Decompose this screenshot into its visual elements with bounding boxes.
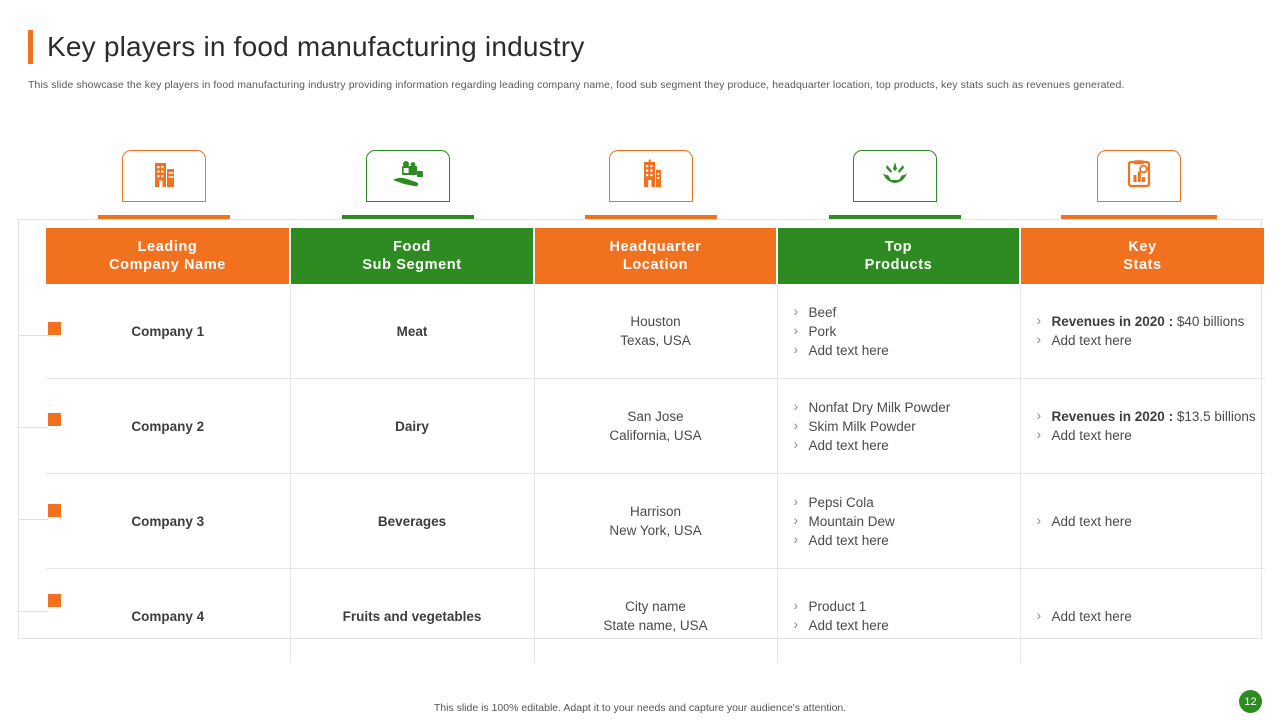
table-row: Company 2 Dairy San Jose California, USA… [46,379,1265,474]
list-item: Skim Milk Powder [790,417,1019,436]
list-item: Add text here [1033,607,1265,626]
cell-stats: Revenues in 2020 : $40 billions Add text… [1020,284,1265,379]
page-number-badge: 12 [1239,690,1262,713]
header-line-1: Headquarter [536,238,775,256]
hq-line-1: Harrison [536,502,776,521]
list-item: Add text here [790,531,1019,550]
icon-card-1 [122,150,206,202]
stats-list: Add text here [1033,607,1265,626]
cell-segment: Fruits and vegetables [290,569,534,664]
report-chart-icon [1122,159,1156,194]
slide: Key players in food manufacturing indust… [0,0,1280,720]
stat-label: Revenues in 2020 : [1052,409,1174,424]
stat-value: $13.5 billions [1177,409,1256,424]
hq-line-1: City name [536,597,776,616]
cell-headquarter: San Jose California, USA [534,379,777,474]
cell-segment: Meat [290,284,534,379]
cell-stats: Revenues in 2020 : $13.5 billions Add te… [1020,379,1265,474]
table-row: Company 3 Beverages Harrison New York, U… [46,474,1265,569]
list-item: Revenues in 2020 : $13.5 billions [1033,407,1265,426]
product-list: Beef Pork Add text here [790,303,1019,360]
icon-card-4 [853,150,937,202]
office-tower-icon [635,159,667,194]
row-connector-2 [18,427,48,428]
icon-card-2 [366,150,450,202]
list-item: Revenues in 2020 : $40 billions [1033,312,1265,331]
column-header-segment: Food Sub Segment [290,228,534,284]
cell-company: Company 3 [46,474,290,569]
list-item: Mountain Dew [790,512,1019,531]
column-header-company: Leading Company Name [46,228,290,284]
stats-list: Revenues in 2020 : $40 billions Add text… [1033,312,1265,350]
slide-subtitle: This slide showcase the key players in f… [28,79,1268,91]
cell-company: Company 2 [46,379,290,474]
row-connector-3 [18,519,48,520]
header-line-2: Location [536,256,775,274]
header-line-2: Company Name [47,256,288,274]
table-row: Company 4 Fruits and vegetables City nam… [46,569,1265,664]
hq-line-2: New York, USA [536,521,776,540]
row-connector-4 [18,611,48,612]
cell-headquarter: City name State name, USA [534,569,777,664]
title-accent-bar [28,30,33,64]
list-item: Add text here [1033,331,1265,350]
stat-label: Revenues in 2020 : [1052,314,1174,329]
key-players-table: Leading Company Name Food Sub Segment He… [46,228,1266,663]
title-text: Key players in food manufacturing indust… [47,31,585,63]
header-line-1: Key [1022,238,1263,256]
cell-products: Nonfat Dry Milk Powder Skim Milk Powder … [777,379,1020,474]
cell-headquarter: Houston Texas, USA [534,284,777,379]
cell-products: Product 1 Add text here [777,569,1020,664]
table-header-row: Leading Company Name Food Sub Segment He… [46,228,1265,284]
stat-value: $40 billions [1177,314,1245,329]
product-list: Product 1 Add text here [790,597,1019,635]
table-row: Company 1 Meat Houston Texas, USA Beef P… [46,284,1265,379]
product-list: Nonfat Dry Milk Powder Skim Milk Powder … [790,398,1019,455]
icon-header-row [0,150,1280,225]
hands-plant-icon [877,159,913,194]
list-item: Add text here [1033,426,1265,445]
list-item: Product 1 [790,597,1019,616]
list-item: Pork [790,322,1019,341]
header-line-1: Leading [47,238,288,256]
factory-building-icon [147,159,181,194]
hq-line-2: Texas, USA [536,331,776,350]
list-item: Add text here [790,341,1019,360]
list-item: Beef [790,303,1019,322]
footer-note: This slide is 100% editable. Adapt it to… [0,702,1280,714]
list-item: Add text here [790,616,1019,635]
cell-segment: Dairy [290,379,534,474]
icon-card-5 [1097,150,1181,202]
column-header-stats: Key Stats [1020,228,1265,284]
stats-list: Add text here [1033,512,1265,531]
list-item: Add text here [790,436,1019,455]
cell-stats: Add text here [1020,474,1265,569]
stats-list: Revenues in 2020 : $13.5 billions Add te… [1033,407,1265,445]
cell-segment: Beverages [290,474,534,569]
cell-products: Beef Pork Add text here [777,284,1020,379]
list-item: Add text here [1033,512,1265,531]
header-line-2: Products [779,256,1018,274]
column-header-headquarter: Headquarter Location [534,228,777,284]
cell-headquarter: Harrison New York, USA [534,474,777,569]
hq-line-1: Houston [536,312,776,331]
hq-line-1: San Jose [536,407,776,426]
hq-line-2: California, USA [536,426,776,445]
page-title: Key players in food manufacturing indust… [28,30,585,64]
product-list: Pepsi Cola Mountain Dew Add text here [790,493,1019,550]
icon-card-3 [609,150,693,202]
header-line-1: Food [292,238,532,256]
column-header-products: Top Products [777,228,1020,284]
cell-stats: Add text here [1020,569,1265,664]
cell-products: Pepsi Cola Mountain Dew Add text here [777,474,1020,569]
list-item: Nonfat Dry Milk Powder [790,398,1019,417]
row-connector-1 [18,335,48,336]
header-line-1: Top [779,238,1018,256]
cell-company: Company 1 [46,284,290,379]
header-line-2: Stats [1022,256,1263,274]
food-hand-icon [389,159,427,194]
cell-company: Company 4 [46,569,290,664]
header-line-2: Sub Segment [292,256,532,274]
list-item: Pepsi Cola [790,493,1019,512]
hq-line-2: State name, USA [536,616,776,635]
